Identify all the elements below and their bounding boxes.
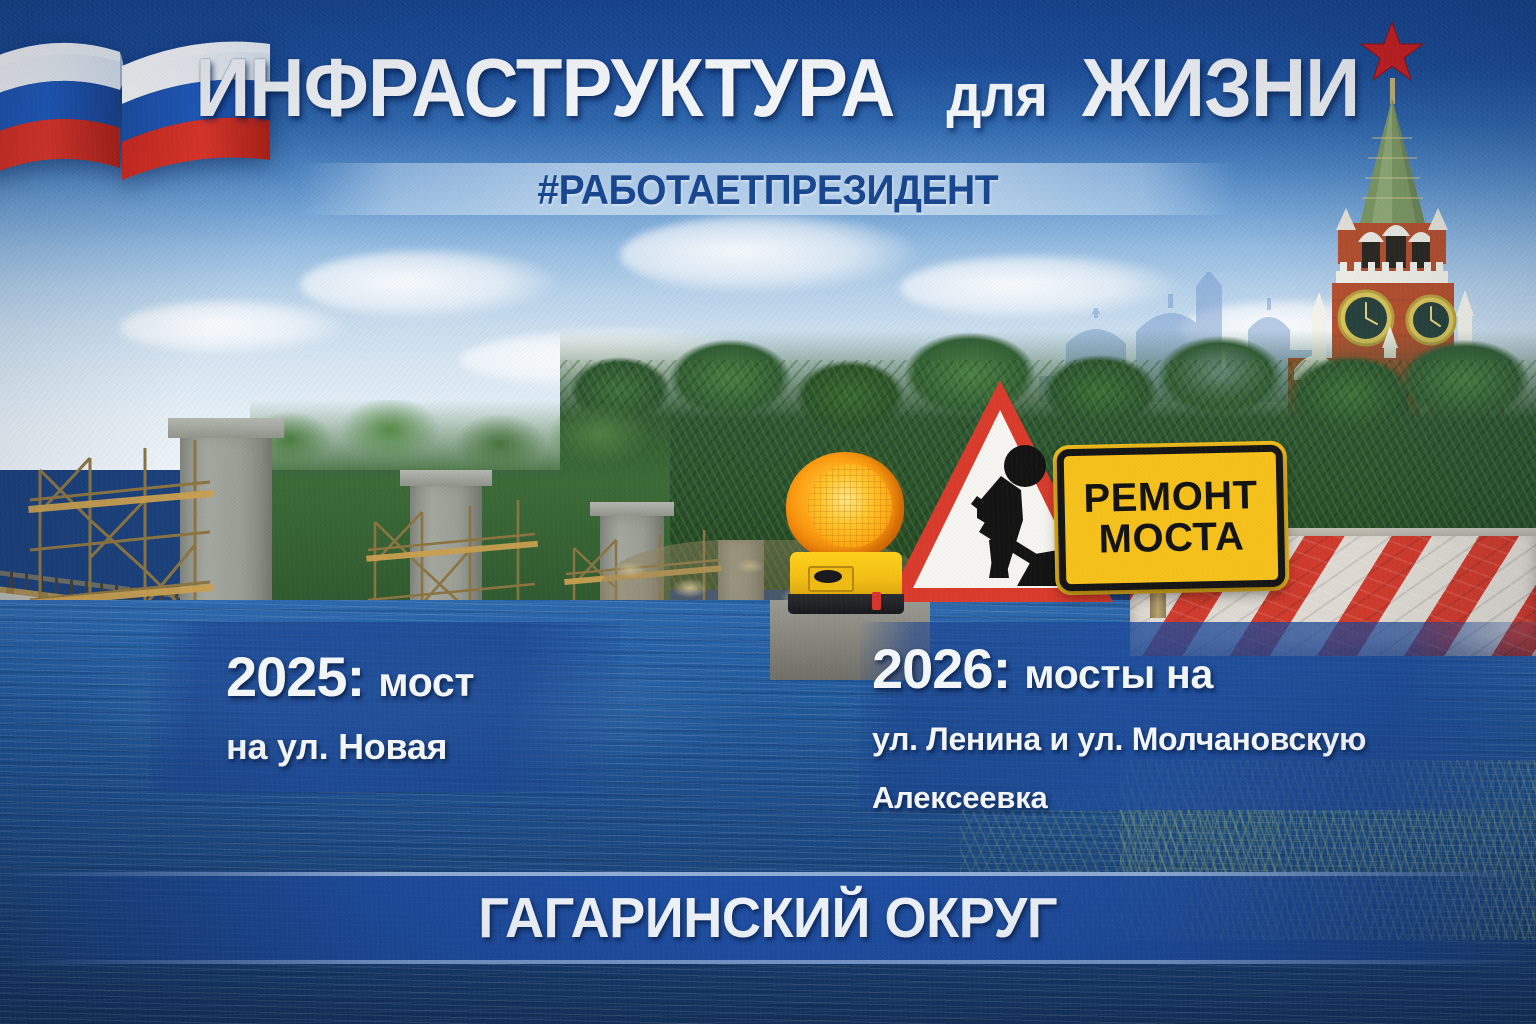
poster-title: ИНФРАСТРУКТУРАдляЖИЗНИ <box>0 40 1536 136</box>
bridge-repair-sign-line1: РЕМОНТ <box>1083 475 1258 519</box>
infographic-poster: РЕМОНТ МОСТА <box>0 0 1536 1024</box>
amber-warning-lamp <box>786 452 908 612</box>
title-part3: ЖИЗНИ <box>1082 40 1359 136</box>
lamp-red-marker <box>872 592 881 610</box>
info-2025-year: 2025: <box>226 645 364 708</box>
info-panel-2026: 2026:мосты на ул. Ленина и ул. Молчановс… <box>872 640 1532 813</box>
district-banner: ГАГАРИНСКИЙ ОКРУГ <box>0 885 1536 951</box>
district-banner-bottom-edge <box>0 960 1536 964</box>
bridge-pier-cap <box>168 418 284 438</box>
lamp-lens <box>808 464 892 548</box>
lamp-switch-knob <box>814 570 842 583</box>
info-2026-lead-rest: мосты на <box>1024 651 1213 697</box>
bridge-repair-sign-line2: МОСТА <box>1098 516 1244 560</box>
district-banner-top-edge <box>0 872 1536 876</box>
title-part1: ИНФРАСТРУКТУРА <box>195 40 894 136</box>
title-part2: для <box>947 61 1048 130</box>
info-2025-lead: 2025:мост <box>226 648 826 705</box>
info-2025-lead-rest: мост <box>378 659 474 705</box>
cloud <box>620 215 920 295</box>
info-2026-year: 2026: <box>872 637 1010 700</box>
info-2025-line2: на ул. Новая <box>226 729 826 766</box>
info-2026-lead: 2026:мосты на <box>872 640 1532 697</box>
district-name: ГАГАРИНСКИЙ ОКРУГ <box>479 885 1058 951</box>
info-panel-2025: 2025:мост на ул. Новая <box>226 648 826 766</box>
bridge-pier-cap <box>400 470 492 486</box>
info-2026-line2: ул. Ленина и ул. Молчановскую <box>872 723 1532 756</box>
bridge-pier-cap <box>590 502 674 516</box>
campaign-hashtag: #РАБОТАЕТПРЕЗИДЕНТ <box>538 166 999 214</box>
info-2026-line3: Алексеевка <box>872 782 1532 814</box>
bridge-repair-sign: РЕМОНТ МОСТА <box>1057 445 1286 592</box>
lamp-foot <box>788 594 904 614</box>
hashtag-row: #РАБОТАЕТПРЕЗИДЕНТ <box>0 166 1536 214</box>
